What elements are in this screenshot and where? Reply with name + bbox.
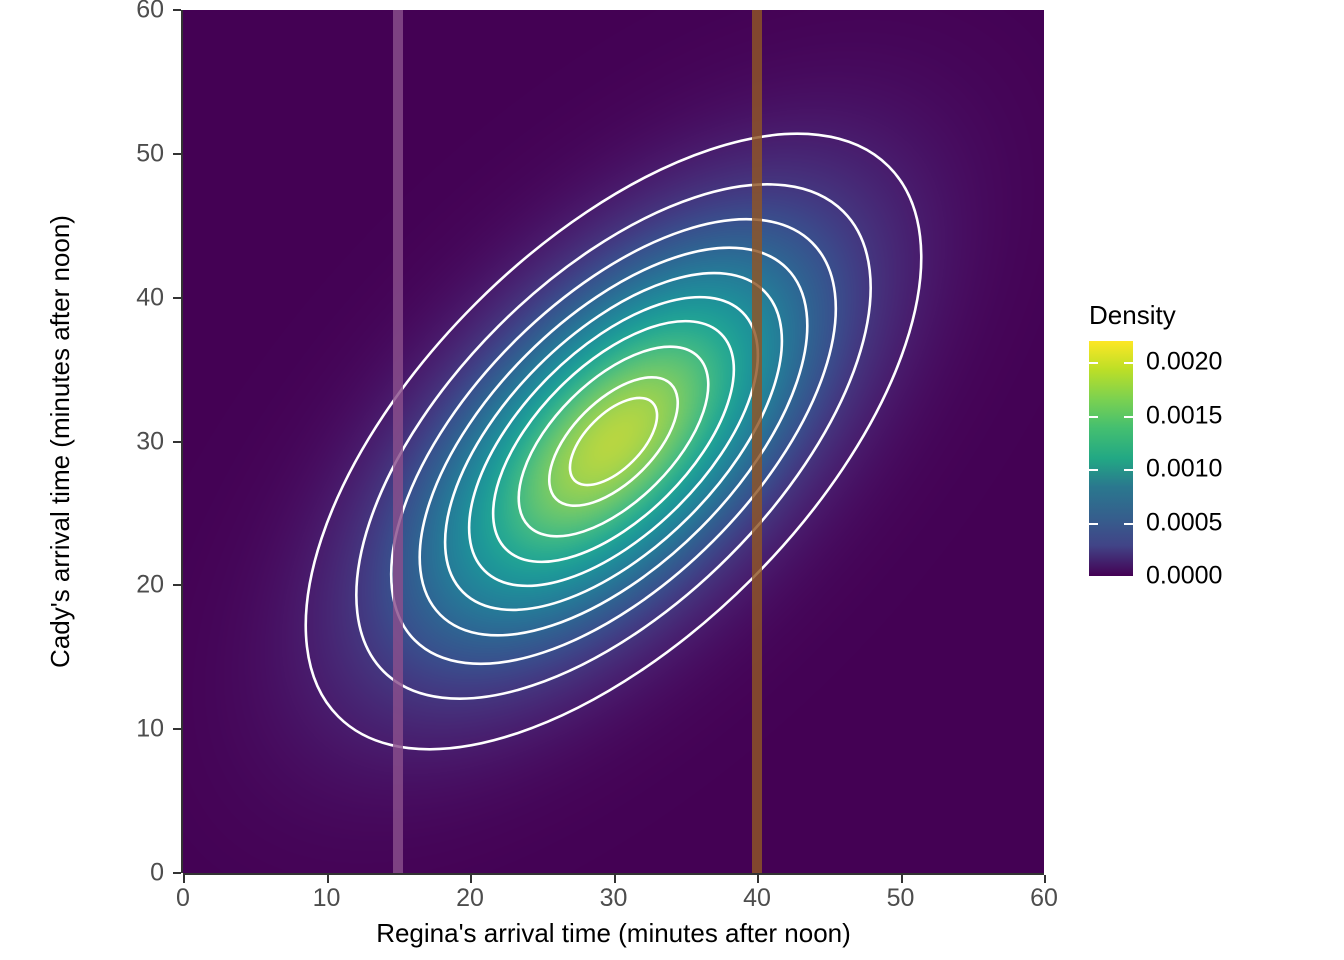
legend-tick-mark xyxy=(1124,416,1133,418)
legend-tick-mark xyxy=(1124,469,1133,471)
y-axis-line xyxy=(181,10,183,873)
y-tick-label: 60 xyxy=(136,0,164,23)
x-tick-mark xyxy=(183,875,185,883)
contour-ellipse xyxy=(555,383,672,500)
contour-ellipse xyxy=(527,355,699,527)
legend-tick-mark xyxy=(1089,576,1098,578)
legend-tick-mark xyxy=(1124,523,1133,525)
legend-tick-mark xyxy=(1124,362,1133,364)
x-tick-label: 10 xyxy=(313,886,341,911)
contour-ellipse xyxy=(486,314,740,568)
legend-colorbar-wrap: 0.00200.00150.00100.00050.0000 xyxy=(1078,341,1308,586)
y-tick-label: 30 xyxy=(136,429,164,454)
y-tick-label: 10 xyxy=(136,717,164,742)
y-tick-mark xyxy=(173,297,181,299)
y-tick-label: 0 xyxy=(150,861,164,886)
contour-ellipse xyxy=(315,143,912,740)
y-tick-mark xyxy=(173,584,181,586)
x-tick-mark xyxy=(470,875,472,883)
vertical-line-cady xyxy=(752,10,762,873)
y-tick-label: 20 xyxy=(136,573,164,598)
legend-tick-mark xyxy=(1089,362,1098,364)
legend-tick-label: 0.0010 xyxy=(1146,455,1222,484)
x-tick-label: 20 xyxy=(456,886,484,911)
x-tick-label: 30 xyxy=(600,886,628,911)
x-tick-mark xyxy=(901,875,903,883)
x-tick-mark xyxy=(757,875,759,883)
legend-tick-label: 0.0000 xyxy=(1146,562,1222,591)
contour-ellipse xyxy=(452,280,775,603)
y-axis-title: Cady's arrival time (minutes after noon) xyxy=(40,10,80,873)
y-tick-mark xyxy=(173,9,181,11)
x-tick-mark xyxy=(614,875,616,883)
legend-tick-mark xyxy=(1089,416,1098,418)
y-tick-mark xyxy=(173,153,181,155)
legend: Density 0.00200.00150.00100.00050.0000 xyxy=(1078,300,1328,586)
x-tick-label: 50 xyxy=(887,886,915,911)
y-tick-mark xyxy=(173,872,181,874)
legend-tick-label: 0.0015 xyxy=(1146,401,1222,430)
contour-ellipse xyxy=(353,181,873,701)
x-axis-title: Regina's arrival time (minutes after noo… xyxy=(183,918,1044,949)
y-tick-label: 40 xyxy=(136,285,164,310)
contour-ellipse xyxy=(388,216,840,668)
y-tick-mark xyxy=(173,728,181,730)
contour-ellipse xyxy=(268,96,958,786)
contour-ellipse xyxy=(201,29,1027,855)
x-tick-mark xyxy=(327,875,329,883)
legend-colorbar xyxy=(1089,341,1133,576)
y-tick-label: 50 xyxy=(136,141,164,166)
legend-tick-mark xyxy=(1124,576,1133,578)
vertical-line-regina xyxy=(393,10,403,873)
x-tick-label: 0 xyxy=(176,886,190,911)
contour-lines-layer xyxy=(183,10,1044,873)
x-tick-label: 40 xyxy=(743,886,771,911)
legend-tick-mark xyxy=(1089,469,1098,471)
legend-tick-mark xyxy=(1089,523,1098,525)
x-tick-label: 60 xyxy=(1030,886,1058,911)
plot-panel xyxy=(183,10,1044,873)
y-tick-mark xyxy=(173,441,181,443)
legend-title: Density xyxy=(1089,300,1328,331)
x-tick-mark xyxy=(1044,875,1046,883)
legend-tick-label: 0.0020 xyxy=(1146,348,1222,377)
legend-tick-label: 0.0005 xyxy=(1146,508,1222,537)
